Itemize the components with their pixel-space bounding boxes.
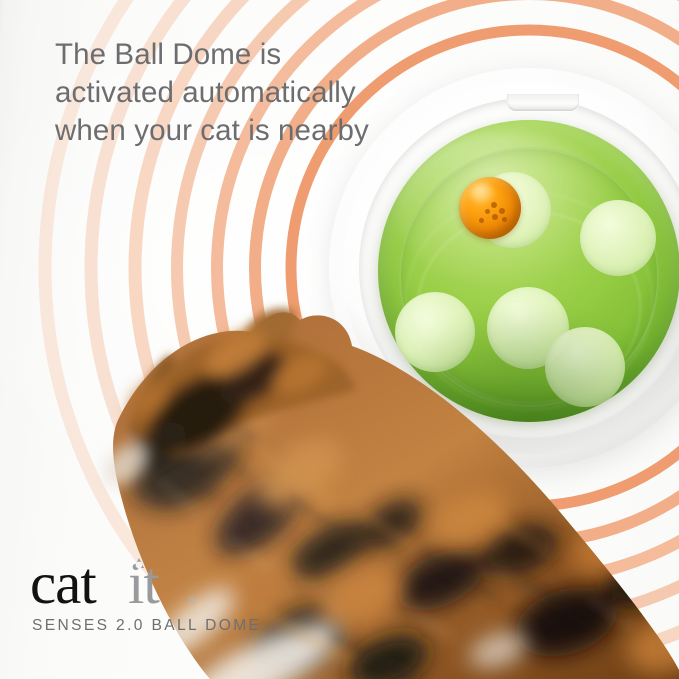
headline-text: The Ball Dome is activated automatically… [55,36,415,150]
brand-logo-block: cat it ® SENSES 2.0 BALL DOME [30,556,261,635]
ball-hole [491,202,497,208]
product-marketing-image: The Ball Dome is activated automatically… [0,0,679,679]
ball-hole [492,214,498,220]
ball-hole [479,218,484,223]
product-tagline: SENSES 2.0 BALL DOME [32,617,261,635]
dome-rim-notch [507,94,579,111]
registered-mark: ® [188,595,196,607]
catit-i-dot [136,562,143,569]
catit-wordmark-light: it [128,556,160,614]
ball-hole [502,217,507,222]
ball-hole [485,209,490,214]
catit-wordmark-dark: cat [30,556,97,614]
orange-ball-toy [459,177,521,239]
ball-hole [499,208,505,214]
catit-wordmark: cat it ® [30,556,261,614]
